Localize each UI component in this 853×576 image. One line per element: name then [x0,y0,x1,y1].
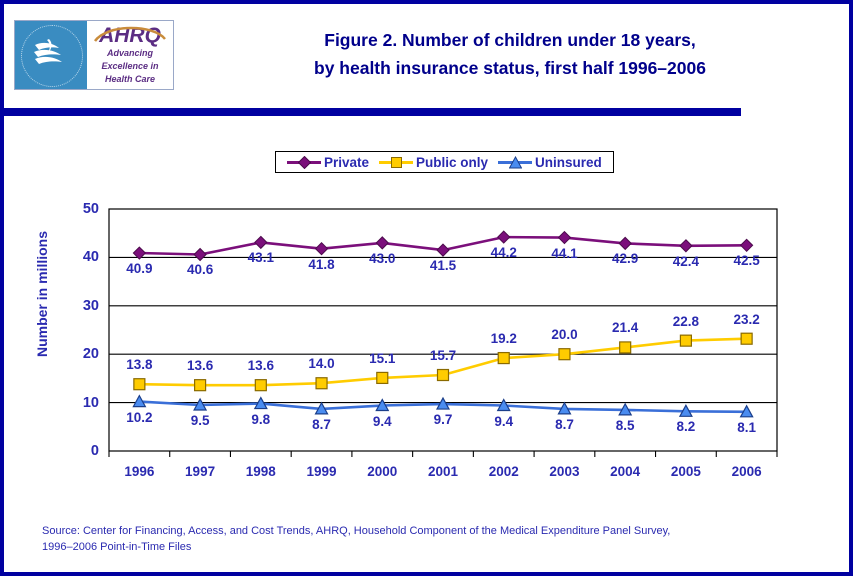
x-axis-tick: 2000 [358,465,406,479]
line-chart: Number in millions 010203040501996199719… [4,184,849,484]
y-axis-tick: 40 [65,250,99,264]
chart-legend: Private Public only Uninsured [275,151,614,173]
data-point-label: 13.6 [238,359,284,373]
legend-item-public-only[interactable]: Public only [379,155,488,170]
figure-title-line-2: by health insurance status, first half 1… [180,54,840,82]
figure-title-line-1: Figure 2. Number of children under 18 ye… [180,26,840,54]
x-axis-tick: 2001 [419,465,467,479]
x-axis-tick: 1997 [176,465,224,479]
legend-swatch-private [287,155,321,169]
data-point-label: 14.0 [299,357,345,371]
figure-title: Figure 2. Number of children under 18 ye… [180,26,840,82]
figure-page: AHRQ Advancing Excellence in Health Care… [0,0,853,576]
data-point-label: 42.5 [724,254,770,268]
x-axis-tick: 2003 [540,465,588,479]
data-point-label: 13.6 [177,359,223,373]
data-point-label: 9.4 [359,415,405,429]
y-axis-tick: 20 [65,347,99,361]
y-axis-tick: 50 [65,202,99,216]
x-axis-tick: 2004 [601,465,649,479]
data-point-label: 22.8 [663,315,709,329]
ahrq-arc-icon [93,23,169,43]
data-point-label: 41.8 [299,258,345,272]
data-point-label: 21.4 [602,321,648,335]
hhs-seal-icon [15,21,87,89]
legend-label-private: Private [324,155,369,170]
figure-header: AHRQ Advancing Excellence in Health Care… [4,4,849,100]
data-point-label: 9.7 [420,413,466,427]
legend-label-uninsured: Uninsured [535,155,602,170]
legend-item-uninsured[interactable]: Uninsured [498,155,602,170]
legend-swatch-uninsured [498,155,532,169]
data-point-label: 8.2 [663,420,709,434]
square-marker-icon [390,156,403,169]
data-point-label: 9.8 [238,413,284,427]
diamond-marker-icon [298,156,311,169]
data-point-label: 20.0 [541,328,587,342]
data-point-label: 8.7 [541,418,587,432]
data-point-label: 40.9 [116,262,162,276]
data-point-label: 10.2 [116,411,162,425]
legend-item-private[interactable]: Private [287,155,369,170]
data-point-label: 41.5 [420,259,466,273]
data-point-label: 8.1 [724,421,770,435]
header-divider [4,108,741,116]
legend-label-public-only: Public only [416,155,488,170]
data-point-label: 15.1 [359,352,405,366]
data-point-label: 8.7 [299,418,345,432]
data-point-label: 23.2 [724,313,770,327]
legend-swatch-public-only [379,155,413,169]
x-axis-tick: 2006 [723,465,771,479]
data-point-label: 43.1 [238,251,284,265]
triangle-marker-icon [509,156,522,169]
y-axis-tick: 30 [65,299,99,313]
data-point-label: 43.0 [359,252,405,266]
x-axis-tick: 2002 [480,465,528,479]
chart-plot-area [4,184,849,484]
x-axis-tick: 1998 [237,465,285,479]
data-point-label: 9.5 [177,414,223,428]
source-line-2: 1996–2006 Point-in-Time Files [42,539,822,555]
x-axis-tick: 2005 [662,465,710,479]
data-point-label: 9.4 [481,415,527,429]
ahrq-tagline-1: Advancing [87,48,173,59]
data-point-label: 19.2 [481,332,527,346]
x-axis-tick: 1996 [115,465,163,479]
data-point-label: 13.8 [116,358,162,372]
y-axis-tick: 10 [65,396,99,410]
ahrq-logo: AHRQ Advancing Excellence in Health Care [14,20,174,90]
data-point-label: 15.7 [420,349,466,363]
data-point-label: 8.5 [602,419,648,433]
ahrq-wordmark-block: AHRQ Advancing Excellence in Health Care [87,21,173,89]
x-axis-tick: 1999 [298,465,346,479]
data-point-label: 44.1 [541,247,587,261]
data-point-label: 44.2 [481,246,527,260]
data-point-label: 42.9 [602,252,648,266]
hhs-eagle-icon [29,35,73,75]
data-point-label: 40.6 [177,263,223,277]
source-note: Source: Center for Financing, Access, an… [42,523,822,555]
y-axis-tick: 0 [65,444,99,458]
data-point-label: 42.4 [663,255,709,269]
ahrq-tagline-2: Excellence in [87,61,173,72]
ahrq-tagline-3: Health Care [87,74,173,85]
source-line-1: Source: Center for Financing, Access, an… [42,523,822,539]
